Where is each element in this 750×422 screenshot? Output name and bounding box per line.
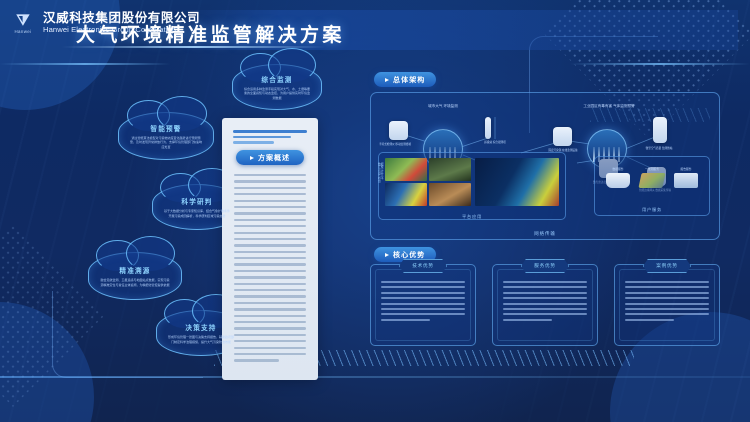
node-caption: 超级站 综合观测塔 <box>469 141 521 145</box>
node-handheld-detector <box>389 121 408 140</box>
cloud-comprehensive-monitoring[interactable]: 综合监测 综合运用多种监测手段实现对大气、水、土壤等要素的全面感知与动态监控，为… <box>232 64 322 110</box>
text-line <box>234 244 306 246</box>
advantage-card-title: 服务优势 <box>521 259 569 273</box>
service-item-map: 一张图服务 <box>637 167 667 188</box>
text-line <box>503 319 552 321</box>
text-line <box>625 292 709 294</box>
service-item-report: 报告服务 <box>671 167 701 188</box>
text-line <box>234 174 306 176</box>
platform-screen-grid <box>385 158 471 206</box>
header-bar: ⧩ Hanwei 汉威科技集团股份有限公司 Hanwei Electronics… <box>0 0 750 52</box>
advantage-card-technical[interactable]: 技术优势 <box>370 264 476 346</box>
cloud-precise-tracing[interactable]: 精准溯源 融合走航监测、卫星遥感与地面站点数据，实现污染源精准定位与责任主体追溯… <box>88 252 182 300</box>
text-line <box>503 292 587 294</box>
text-line <box>234 200 306 202</box>
hanwei-logo-icon: ⧩ Hanwei <box>10 8 36 38</box>
cloud-scientific-analysis[interactable]: 科学研判 基于大数据分析与专家知识库，结合气象扩散条件开展污染成因解析，科学研判… <box>152 184 242 230</box>
platform-side-label: 数据汇聚与计算分析平台 <box>378 163 385 183</box>
report-service-icon <box>674 173 698 188</box>
text-line <box>234 238 306 240</box>
text-line <box>234 225 306 227</box>
text-line <box>381 286 465 288</box>
platform-application-panel: 数据汇聚与计算分析平台 平台应用 <box>378 152 566 220</box>
text-line <box>234 193 306 195</box>
text-line <box>381 292 465 294</box>
user-service-panel: 数据服务 一张图服务 报告服务 用户服务 <box>594 156 710 216</box>
cloud-title: 科学研判 <box>181 196 212 206</box>
map-service-icon <box>638 173 665 188</box>
advantage-card-title: 案例优势 <box>643 259 691 273</box>
advantage-card-case[interactable]: 案例优势 <box>614 264 720 346</box>
text-line <box>234 359 279 361</box>
terrain-view-screen <box>429 183 471 206</box>
service-label: 一张图服务 <box>637 167 667 171</box>
advantage-card-body <box>625 281 709 324</box>
text-line <box>625 286 709 288</box>
cloud-body: 形成环境管理一张图与决策支持报告，辅助政府部门制定科学治理措施，提升大气污染防治… <box>168 335 234 344</box>
text-line <box>234 232 306 234</box>
overview-pill-label: 方案概述 <box>258 153 290 163</box>
platform-caption: 平台应用 <box>462 214 482 220</box>
cloud-body: 综合运用多种监测手段实现对大气、水、土壤等要素的全面感知与动态监控，为用户提供实… <box>244 87 310 101</box>
slide-canvas: ⧩ Hanwei 汉威科技集团股份有限公司 Hanwei Electronics… <box>0 0 750 422</box>
play-triangle-icon <box>385 253 389 257</box>
text-line <box>625 313 709 315</box>
service-item-data: 数据服务 <box>603 167 633 188</box>
node-factory-sensor <box>553 127 572 146</box>
page-title: 大气环境精准监管解决方案 <box>76 20 345 47</box>
panel-bar <box>233 136 291 139</box>
cloud-body: 融合走航监测、卫星遥感与地面站点数据，实现污染源精准定位与责任主体追溯，为精细化… <box>100 278 170 287</box>
cloud-intelligent-warning[interactable]: 智能预警 通过智能算法模型对污染物浓度变化趋势进行预测预警，及时发现异常排放行为… <box>118 112 214 160</box>
node-tower-station <box>485 117 491 139</box>
logo-glyph: ⧩ <box>16 13 29 28</box>
panel-heading-bars <box>233 130 307 147</box>
logo-caption: Hanwei <box>14 29 31 34</box>
advantage-card-body <box>503 281 587 324</box>
text-line <box>234 257 306 259</box>
node-caption: 手持式检测仪 移动监测终端 <box>369 143 421 147</box>
text-line <box>503 297 587 299</box>
cloud-title: 综合监测 <box>261 74 292 84</box>
play-triangle-icon <box>385 78 389 82</box>
user-service-caption: 用户服务 <box>642 207 662 213</box>
text-line <box>625 308 709 310</box>
text-line <box>503 303 587 305</box>
cloud-decision-support[interactable]: 决策支持 形成环境管理一张图与决策支持报告，辅助政府部门制定科学治理措施，提升大… <box>156 310 246 356</box>
data-service-icon <box>606 173 630 188</box>
text-line <box>234 270 306 272</box>
pollution-map-screen <box>385 183 427 206</box>
text-line <box>234 263 306 265</box>
node-caption: 城市大气 环境监测 <box>417 105 469 109</box>
field-camera-screen <box>429 158 471 181</box>
network-transmission-label: 网络传输 <box>534 231 556 237</box>
text-line <box>234 251 306 253</box>
text-line <box>503 313 587 315</box>
text-line <box>234 283 306 285</box>
service-label: 数据服务 <box>603 167 633 171</box>
text-line <box>234 212 306 214</box>
cloud-title: 智能预警 <box>150 123 181 133</box>
text-line <box>625 281 709 283</box>
overview-pill-button[interactable]: 方案概述 <box>236 150 304 165</box>
section-label-core-advantages: 核心优势 <box>393 250 425 260</box>
cloud-body: 基于大数据分析与专家知识库，结合气象扩散条件开展污染成因解析，科学研判区域污染态… <box>164 209 230 218</box>
node-micro-station <box>653 117 667 143</box>
text-line <box>503 286 587 288</box>
text-line <box>234 187 306 189</box>
text-line <box>234 219 306 221</box>
text-line <box>381 297 465 299</box>
section-pill-architecture[interactable]: 总体架构 <box>374 72 436 87</box>
text-line <box>234 180 306 182</box>
text-line <box>234 206 306 208</box>
text-line <box>234 302 306 304</box>
video-wall-screen <box>385 158 427 181</box>
text-line <box>381 303 465 305</box>
text-line <box>381 319 430 321</box>
cloud-body: 通过智能算法模型对污染物浓度变化趋势进行预测预警，及时发现异常排放行为，支撑环境… <box>130 136 202 150</box>
panel-bar <box>233 141 274 144</box>
advantage-card-body <box>381 281 465 324</box>
service-label: 报告服务 <box>671 167 701 171</box>
panel-bar <box>233 130 307 133</box>
text-line <box>234 289 306 291</box>
text-line <box>625 297 709 299</box>
text-line <box>234 276 306 278</box>
text-line <box>234 295 306 297</box>
text-line <box>381 308 465 310</box>
node-caption: 微型空气质量 监测微站 <box>633 147 685 151</box>
section-label-architecture: 总体架构 <box>393 75 425 85</box>
regional-diffusion-map <box>475 158 559 206</box>
text-line <box>503 281 587 283</box>
text-line <box>625 303 709 305</box>
cloud-title: 精准溯源 <box>119 265 150 275</box>
node-caption: 工业园区有毒有害 气体监测预警 <box>583 105 635 109</box>
content-stage: 综合监测 综合运用多种监测手段实现对大气、水、土壤等要素的全面感知与动态监控，为… <box>26 56 724 382</box>
text-line <box>381 281 465 283</box>
cloud-title: 决策支持 <box>185 322 216 332</box>
advantage-card-title: 技术优势 <box>399 259 447 273</box>
text-line <box>625 319 674 321</box>
play-triangle-icon <box>250 156 254 160</box>
text-line <box>503 308 587 310</box>
text-line <box>381 313 465 315</box>
advantage-card-service[interactable]: 服务优势 <box>492 264 598 346</box>
